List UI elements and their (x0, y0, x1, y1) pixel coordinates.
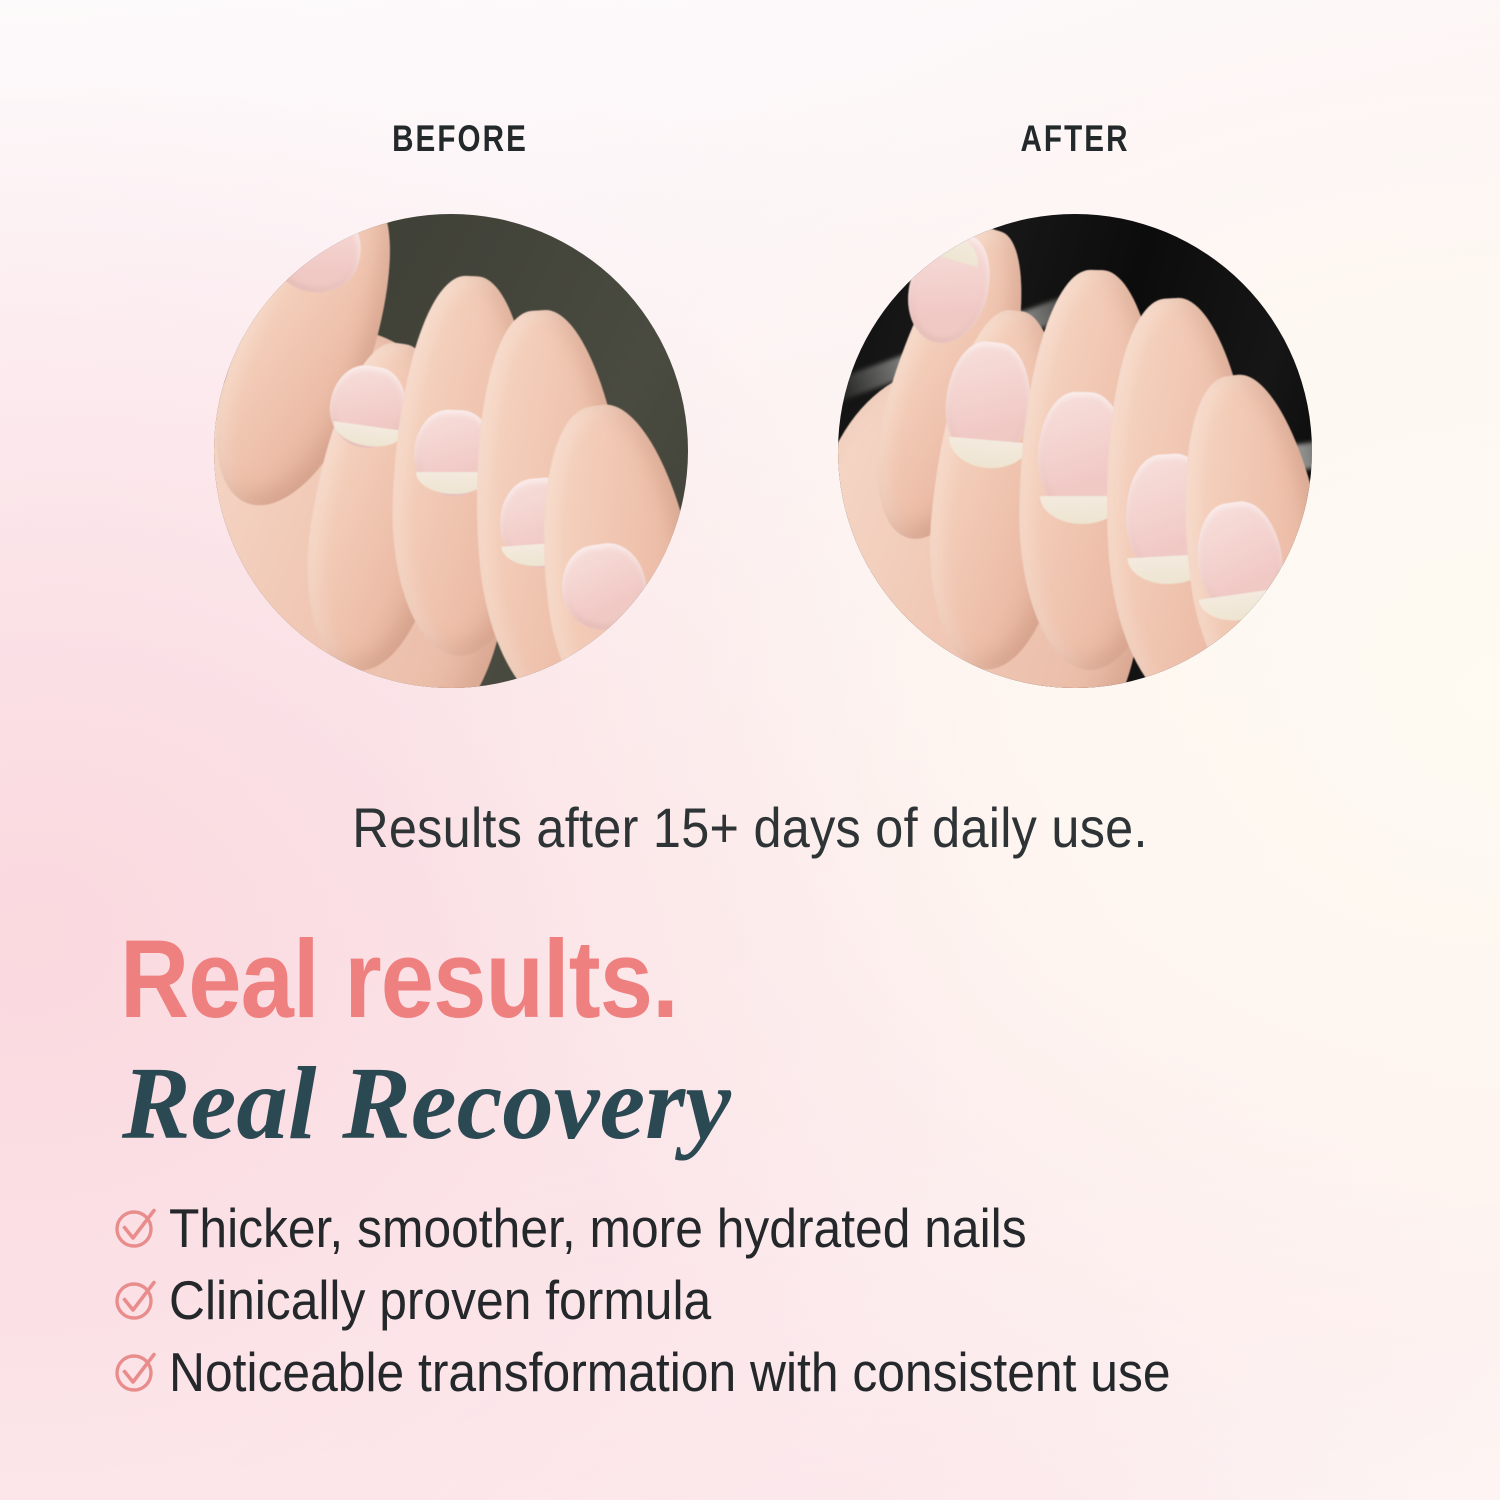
headline-secondary: Real Recovery (122, 1052, 731, 1156)
circled-check-icon (113, 1349, 159, 1395)
benefit-label: Noticeable transformation with consisten… (169, 1342, 1171, 1402)
before-label: BEFORE (272, 118, 648, 160)
circled-check-icon (113, 1277, 159, 1323)
after-label: AFTER (885, 118, 1264, 160)
promo-banner: BEFORE AFTER (0, 0, 1500, 1500)
circled-check-icon (113, 1205, 159, 1251)
after-hand-illustration (838, 214, 1312, 688)
after-photo (838, 214, 1312, 688)
benefits-list: Thicker, smoother, more hydrated nails C… (113, 1198, 1433, 1414)
benefit-item: Thicker, smoother, more hydrated nails (113, 1198, 1433, 1262)
headline-primary: Real results. (120, 925, 678, 1035)
benefit-label: Thicker, smoother, more hydrated nails (169, 1198, 1027, 1258)
benefit-item: Clinically proven formula (113, 1270, 1433, 1334)
benefit-label: Clinically proven formula (169, 1270, 711, 1330)
benefit-item: Noticeable transformation with consisten… (113, 1342, 1433, 1406)
before-photo (214, 214, 688, 688)
results-caption: Results after 15+ days of daily use. (75, 795, 1425, 860)
before-hand-illustration (214, 214, 688, 688)
